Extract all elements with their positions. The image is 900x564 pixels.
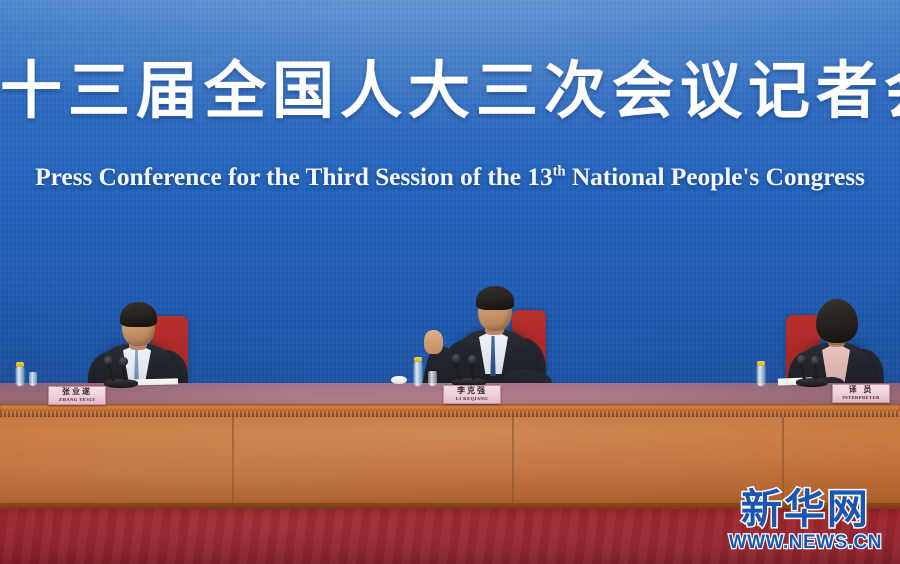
water-glass-left <box>29 372 37 386</box>
microphone-base-left <box>104 379 138 388</box>
xinhua-watermark: 新华网 WWW.NEWS.CN <box>729 489 882 552</box>
nameplate-right-english: INTERPRETER <box>842 396 880 401</box>
table-panel-seam <box>512 417 514 507</box>
microphone-head-center-a <box>452 354 461 363</box>
water-glass-center <box>428 371 437 386</box>
microphone-head-right-a <box>797 355 806 364</box>
nameplate-center: 李克强 LI KEQIANG <box>443 385 501 404</box>
nameplate-left: 张业遂 ZHANG YESUI <box>48 386 106 405</box>
microphone-head-right-b <box>811 356 820 365</box>
nameplate-left-chinese: 张业遂 <box>62 388 92 396</box>
conference-table-edge <box>0 404 900 411</box>
nameplate-right-chinese: 译 员 <box>849 386 874 394</box>
microphone-head-center-b <box>468 355 477 364</box>
water-bottle-left <box>16 366 24 386</box>
nameplate-left-english: ZHANG YESUI <box>59 398 95 403</box>
bottle-cap-left <box>16 362 24 367</box>
water-bottle-right <box>757 365 765 386</box>
hair-right <box>816 299 858 343</box>
banner-english-title: Press Conference for the Third Session o… <box>0 162 900 192</box>
hair-left <box>120 302 157 327</box>
microphone-base-right <box>796 378 828 387</box>
hand-center-raised <box>424 330 443 354</box>
banner-english-part1: Press Conference for the Third Session o… <box>35 162 552 191</box>
press-conference-photo: 十三届全国人大三次会议记者会 Press Conference for the … <box>0 0 900 564</box>
banner-english-part2: National People's Congress <box>566 162 865 191</box>
nameplate-center-english: LI KEQIANG <box>456 397 488 402</box>
banner-chinese-title: 十三届全国人大三次会议记者会 <box>0 58 900 123</box>
bottle-cap-center <box>414 357 422 362</box>
microphone-head-left-a <box>104 356 113 365</box>
table-panel-seam <box>232 417 234 507</box>
watermark-chinese-logo: 新华网 <box>729 489 882 530</box>
water-bottle-center <box>414 361 422 386</box>
microphone-head-left-b <box>119 357 128 366</box>
hair-center <box>476 286 514 310</box>
nameplate-center-chinese: 李克强 <box>457 387 487 395</box>
nameplate-right: 译 员 INTERPRETER <box>832 384 890 403</box>
banner-english-superscript: th <box>553 164 566 180</box>
tea-cup-center <box>391 376 407 384</box>
watermark-url: WWW.NEWS.CN <box>729 533 882 552</box>
bottle-cap-right <box>757 361 765 366</box>
